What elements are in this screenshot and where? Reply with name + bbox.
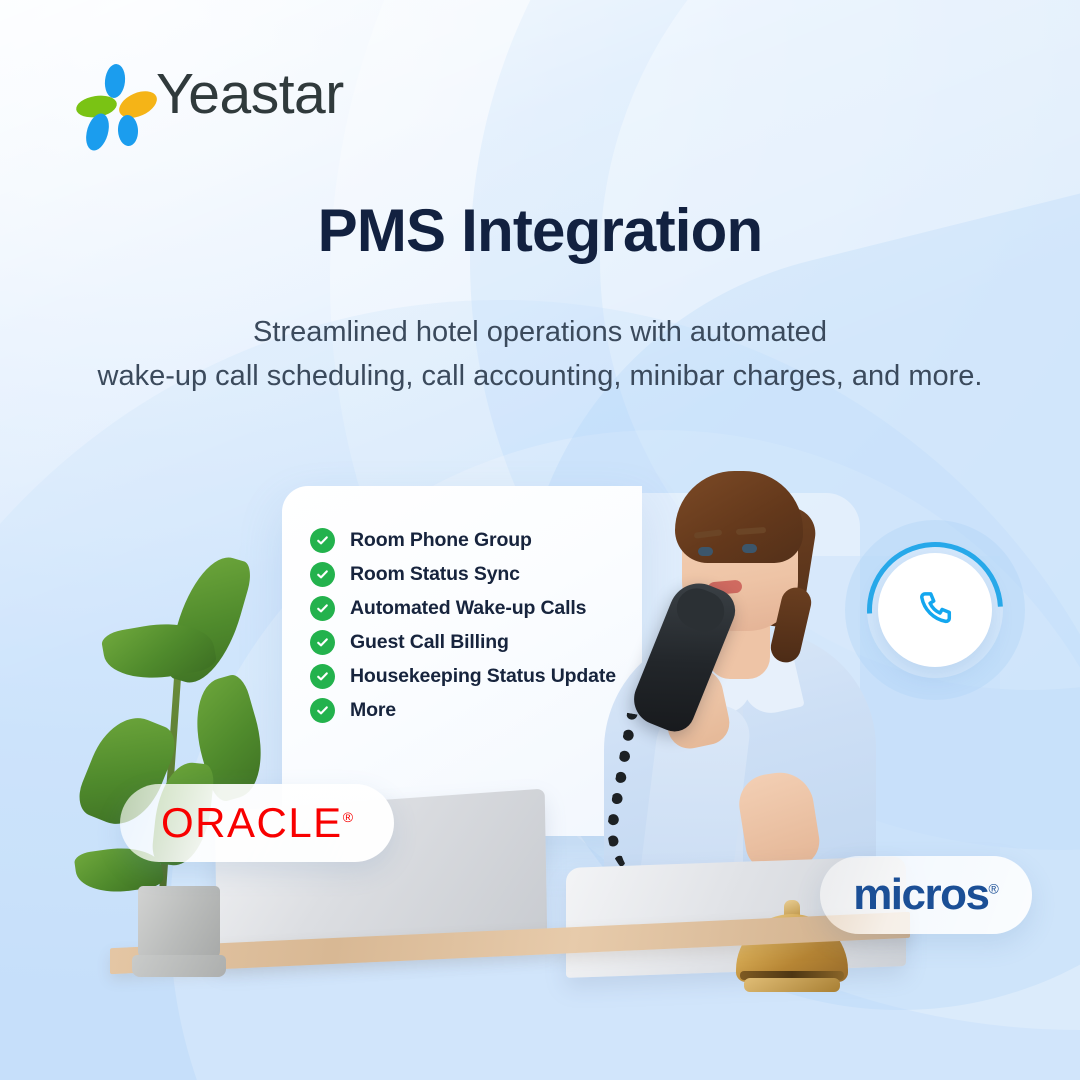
oracle-trademark: ® [343, 809, 353, 825]
promo-graphic: Yeastar PMS Integration Streamlined hote… [0, 0, 1080, 1080]
list-item-label: Guest Call Billing [350, 631, 509, 654]
hero-scene: Room Phone Group Room Status Sync Automa… [0, 0, 1080, 1080]
micros-logo-icon: micros® [853, 873, 999, 917]
oracle-logo-icon: ORACLE® [161, 802, 353, 844]
check-circle-icon [310, 698, 335, 723]
micros-trademark: ® [988, 880, 998, 896]
person-eye-left [698, 547, 713, 556]
check-circle-icon [310, 562, 335, 587]
check-circle-icon [310, 630, 335, 655]
micros-label: micros [853, 870, 988, 919]
list-item-label: Automated Wake-up Calls [350, 597, 586, 620]
phone-handset-icon[interactable] [878, 553, 992, 667]
check-circle-icon [310, 664, 335, 689]
list-item-label: Room Phone Group [350, 529, 532, 552]
person-eye-right [742, 544, 757, 553]
partner-badge-oracle[interactable]: ORACLE® [120, 784, 394, 862]
list-item-label: More [350, 699, 396, 722]
check-circle-icon [310, 528, 335, 553]
bell-base [744, 978, 840, 992]
list-item-label: Room Status Sync [350, 563, 520, 586]
check-circle-icon [310, 596, 335, 621]
person-hair [675, 471, 803, 563]
list-item-label: Housekeeping Status Update [350, 665, 616, 688]
plant-pot [138, 886, 220, 960]
oracle-label: ORACLE [161, 799, 343, 846]
receptionist-figure [590, 455, 890, 925]
plant-pot-base [132, 955, 226, 977]
handset-earpiece [671, 582, 730, 637]
partner-badge-micros[interactable]: micros® [820, 856, 1032, 934]
